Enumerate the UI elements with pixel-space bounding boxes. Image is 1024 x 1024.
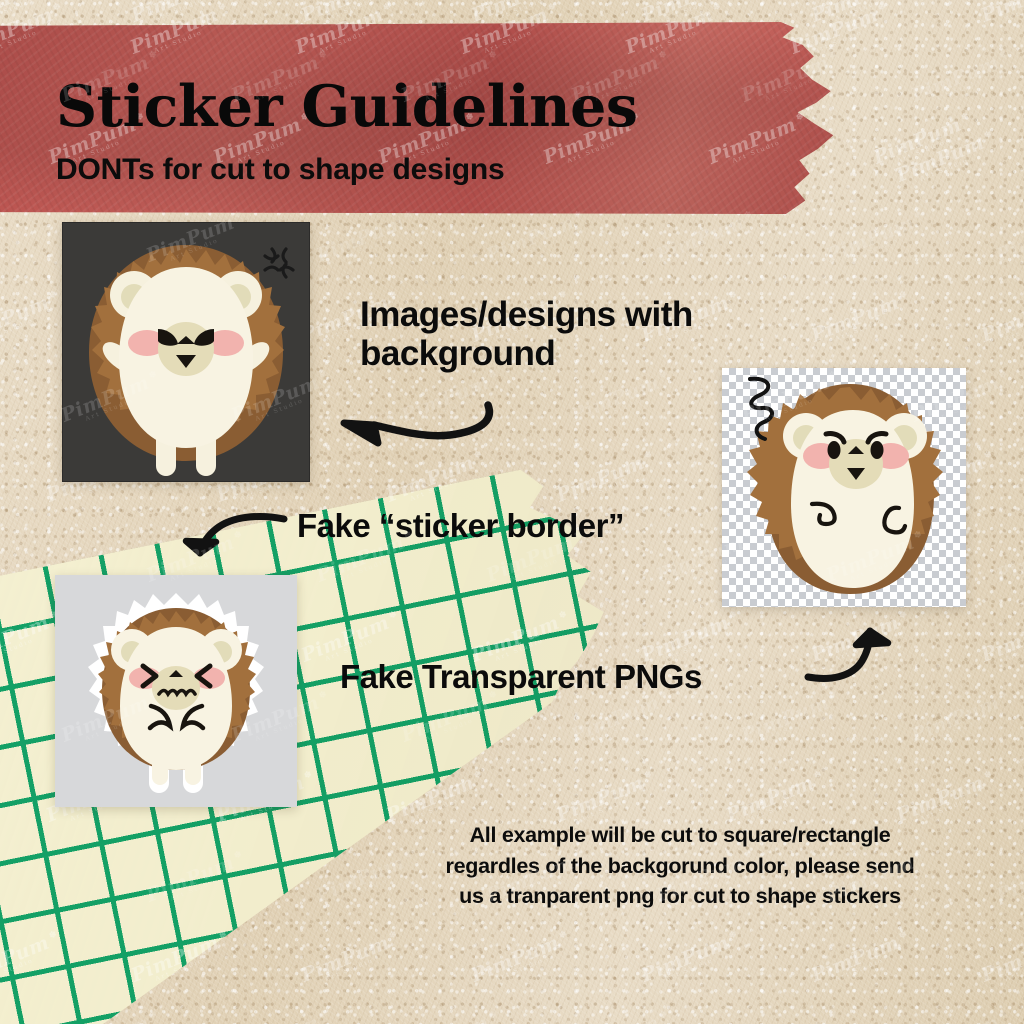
checker-panel-content [722, 368, 966, 607]
squinting-hedgehog-sticker [55, 575, 297, 807]
sweat-squiggle-icon [734, 373, 794, 453]
hedgehog-eye-right [871, 441, 884, 459]
anger-vein-icon [259, 243, 299, 283]
callout-fake-transparent-pngs: Fake Transparent PNGs [340, 659, 702, 696]
footnote-text: All example will be cut to square/rectan… [390, 820, 970, 912]
washi-tape-header: PimPum❄Art StudioPimPum❄Art StudioPimPum… [0, 22, 840, 214]
hedgehog-face-body [791, 410, 914, 588]
footnote-line-3: us a tranparent png for cut to shape sti… [390, 881, 970, 912]
poster-canvas: PimPum❄Art StudioPimPum❄Art StudioPimPum… [0, 0, 1024, 1024]
callout-images-with-background: Images/designs with background [360, 295, 780, 373]
hedgehog-eye-left [828, 441, 841, 459]
footnote-line-1: All example will be cut to square/rectan… [390, 820, 970, 851]
callout-line-2: background [360, 334, 780, 373]
checkerboard-background-example[interactable] [722, 368, 966, 607]
page-title: Sticker Guidelines [56, 78, 637, 135]
dark-background-example[interactable] [62, 222, 310, 482]
dark-panel-content [63, 223, 309, 481]
callout-line-1: Images/designs with [360, 295, 780, 334]
grey-background-example[interactable] [55, 575, 297, 807]
callout-fake-sticker-border: Fake “sticker border” [297, 508, 624, 545]
page-subtitle: DONTs for cut to shape designs [56, 155, 505, 185]
grey-panel-content [55, 575, 297, 807]
footnote-line-2: regardles of the backgorund color, pleas… [390, 851, 970, 882]
